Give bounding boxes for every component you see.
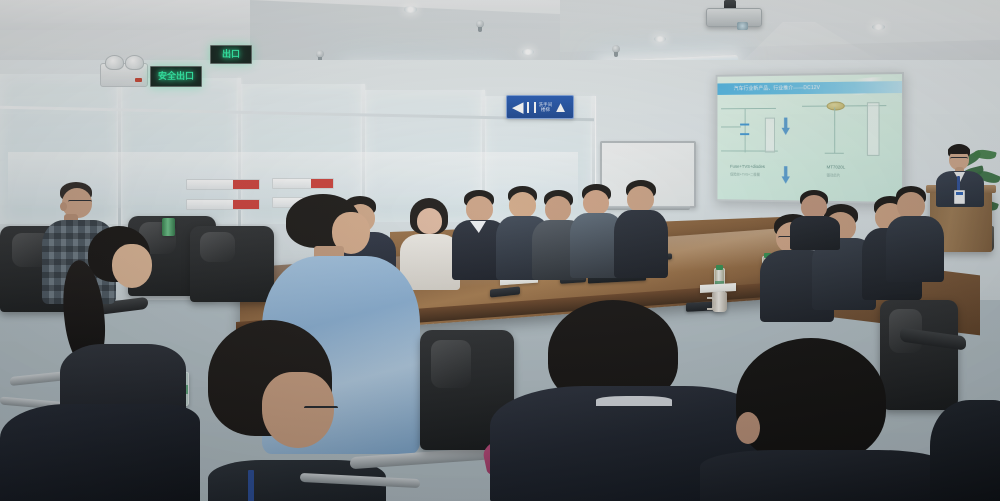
- ceiling-projector: [706, 8, 762, 27]
- elevator-icon: [525, 100, 538, 115]
- attendee-glasses: [304, 406, 338, 413]
- projection-screen-surface: 汽车行业新产品、行业推介——DC12V Fus: [717, 74, 902, 202]
- ceiling-downlight: [522, 49, 534, 55]
- emergency-lamp: [125, 55, 144, 70]
- ceiling-downlight: [404, 6, 417, 13]
- attendee-head: [897, 192, 925, 219]
- exit-sign-center: 出口: [210, 45, 252, 64]
- bottle-cap: [716, 265, 723, 270]
- presenter-glasses: [950, 157, 968, 163]
- attendee-lanyard: [248, 470, 254, 501]
- slide-label-left-sub: 保险丝+TVS+二极管: [730, 173, 760, 178]
- attendee-head: [112, 244, 152, 288]
- diagram-block: [867, 102, 880, 156]
- attendee-head: [627, 186, 654, 212]
- diagram-wire: [745, 108, 746, 152]
- conference-room-photo: 安全出口 出口 ◀ 洗手间 楼梯 ▲ 汽车行业新产品、行业推介——DC12V: [0, 0, 1000, 501]
- attendee-torso: [790, 216, 840, 250]
- attendee-glasses: [68, 200, 92, 206]
- sprinkler-head: [612, 45, 620, 53]
- attendee-suit-center-e: [614, 180, 670, 278]
- exit-sign-center-text: 出口: [222, 50, 240, 59]
- diagram-wire: [834, 107, 835, 152]
- diagram-wire: [721, 108, 776, 109]
- diagram-inductor: [827, 102, 845, 111]
- diagram-component: [740, 124, 749, 126]
- attendee-ear: [736, 412, 760, 444]
- exit-sign-left-text: 安全出口: [158, 72, 194, 81]
- attendee-foreground-suit-right: [700, 338, 950, 501]
- slide-label-right-sub: 驱动芯片: [827, 173, 841, 178]
- attendee-torso: [700, 450, 948, 501]
- attendee-foreground-bottom-left: [0, 404, 200, 501]
- wall-marker-board: [272, 178, 334, 189]
- diagram-component: [740, 133, 749, 135]
- attendee-foreground-far-right: [930, 400, 1000, 501]
- emergency-light: [100, 63, 148, 87]
- slide-label-left: Fuse+TVS+diodes: [730, 164, 765, 170]
- slide-diagram: [717, 93, 902, 202]
- attendee-head: [466, 196, 493, 222]
- wayfinding-sign: ◀ 洗手间 楼梯 ▲: [506, 95, 574, 119]
- arrow-left-icon: ◀: [512, 100, 524, 115]
- diagram-wire: [721, 126, 741, 127]
- attendee-torso: [614, 210, 668, 278]
- attendee-shirt-collar: [596, 396, 672, 406]
- slide-label-right: MT7020L: [827, 165, 846, 171]
- projection-screen: 汽车行业新产品、行业推介——DC12V Fus: [716, 72, 904, 204]
- wall-marker-board: [186, 179, 260, 190]
- diagram-arrow-icon: [782, 166, 790, 184]
- exit-sign-left: 安全出口: [150, 66, 202, 87]
- diagram-arrow-icon: [782, 118, 790, 136]
- wall-marker-board: [186, 199, 260, 210]
- presenter-hair-front: [948, 146, 970, 154]
- ceiling-downlight: [872, 24, 885, 30]
- ceiling-downlight: [654, 36, 666, 42]
- attendee-ear: [60, 202, 67, 211]
- attendee-torso: [886, 216, 944, 282]
- emergency-lamp: [105, 55, 124, 70]
- projector-lens: [737, 22, 748, 30]
- diagram-block: [765, 118, 775, 153]
- attendee-head: [545, 196, 571, 222]
- attendee-right-back: [790, 190, 842, 250]
- wayfinding-label-left: 洗手间 楼梯: [539, 102, 553, 112]
- attendee-right-d: [886, 186, 946, 282]
- arrow-up-icon: ▲: [553, 100, 568, 115]
- emergency-indicator: [135, 78, 142, 82]
- attendee-head: [583, 190, 609, 215]
- diagram-wire: [825, 153, 844, 154]
- presenter-badge: [954, 190, 965, 204]
- attendee-woman-ponytail: [60, 226, 190, 426]
- sprinkler-head: [476, 20, 484, 28]
- attendee-hair: [736, 338, 886, 464]
- sprinkler-head: [316, 50, 324, 58]
- attendee-foreground-glasses: [208, 320, 388, 501]
